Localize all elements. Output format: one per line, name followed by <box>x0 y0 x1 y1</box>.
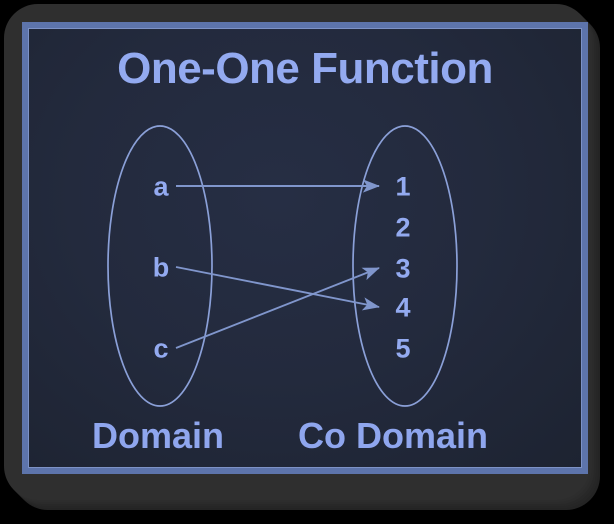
mapping-arrow-b-to-4 <box>176 267 379 307</box>
mapping-diagram-graphic <box>28 28 582 468</box>
codomain-element-3: 3 <box>388 254 418 285</box>
slide-frame: One-One Function a b c 1 2 3 4 <box>22 22 588 474</box>
codomain-element-4: 4 <box>388 293 418 324</box>
domain-element-a: a <box>146 172 176 203</box>
domain-element-b: b <box>146 253 176 284</box>
codomain-label: Co Domain <box>298 415 488 457</box>
domain-element-c: c <box>146 334 176 365</box>
diagram-canvas: One-One Function a b c 1 2 3 4 <box>0 0 614 524</box>
domain-label: Domain <box>92 415 224 457</box>
mapping-arrow-c-to-3 <box>176 268 379 348</box>
codomain-element-1: 1 <box>388 172 418 203</box>
codomain-element-5: 5 <box>388 334 418 365</box>
codomain-element-2: 2 <box>388 213 418 244</box>
